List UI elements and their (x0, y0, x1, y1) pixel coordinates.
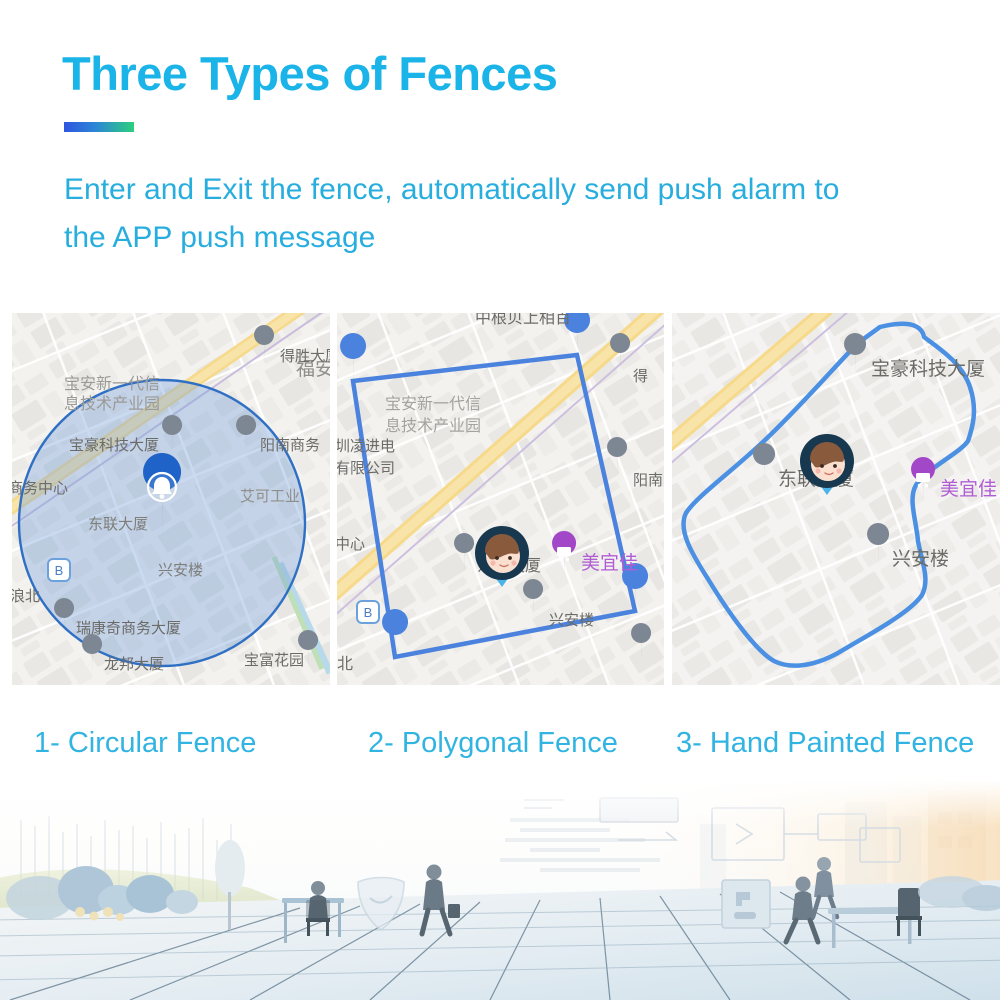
map-label: 宝安新一代信 (385, 394, 481, 413)
map-label: B (364, 605, 373, 620)
map-label: 兴安楼 (892, 548, 949, 570)
panel-hand-painted-fence[interactable]: 宝豪科技大厦 东联大厦 兴安楼 美宜佳 (672, 313, 1000, 685)
plaza-scene-svg (0, 780, 1000, 1000)
map-label: 兴安楼 (158, 561, 203, 579)
map-label: 息技术产业园 (385, 416, 481, 435)
panel-polygonal-fence[interactable]: 中根贝上相百 宝安新一代信 息技术产业园 圳凌进电 有限公司 中心 得 阳南 东… (337, 313, 664, 685)
map-label: 有限公司 (337, 459, 395, 477)
map-label: 阳南商务 (260, 436, 320, 454)
map-label: 阳南 (633, 471, 663, 489)
map-label: 得 (633, 367, 648, 385)
map-label: 宝富花园 (244, 651, 304, 669)
bottom-illustration (0, 780, 1000, 1000)
scene-top-fade (0, 780, 1000, 828)
map-label: 浪北 (12, 587, 40, 605)
map-label: 宝豪科技大厦 (871, 358, 985, 380)
map-label: 商务中心 (12, 479, 68, 497)
caption-circular-fence: 1- Circular Fence (34, 727, 256, 760)
map-label: B (55, 563, 64, 578)
map-label: 宝安新一代信 (64, 374, 160, 393)
map-label: 美宜佳 (940, 478, 997, 500)
map-label: 兴安楼 (549, 611, 594, 629)
title-accent-bar (64, 122, 134, 132)
map-label: 中根贝上相百 (475, 313, 571, 327)
fence-panels: 宝安新一代信 息技术产业园 福安 得胜大厦 宝豪科技大厦 阳南商务 商务中心 艾… (0, 313, 1000, 685)
map-label: 宝豪科技大厦 (69, 436, 159, 454)
page-subtitle: Enter and Exit the fence, automatically … (64, 166, 874, 262)
map-label: 北 (337, 654, 353, 673)
map-label: 东联大厦 (88, 515, 148, 533)
map-label: 艾可工业 (240, 487, 300, 505)
avatar-face (810, 442, 845, 481)
map-label: 息技术产业园 (64, 394, 160, 413)
avatar-face (485, 534, 520, 573)
page-root: Three Types of Fences Enter and Exit the… (0, 0, 1000, 1000)
map-canvas-hand-painted: 宝豪科技大厦 东联大厦 兴安楼 美宜佳 (672, 313, 1000, 685)
panel-circular-fence[interactable]: 宝安新一代信 息技术产业园 福安 得胜大厦 宝豪科技大厦 阳南商务 商务中心 艾… (12, 313, 330, 685)
bus-stop-badge: B (357, 601, 379, 623)
map-label: 圳凌进电 (337, 437, 395, 455)
caption-polygonal-fence: 2- Polygonal Fence (368, 727, 618, 760)
map-canvas-circular: 宝安新一代信 息技术产业园 福安 得胜大厦 宝豪科技大厦 阳南商务 商务中心 艾… (12, 313, 330, 685)
page-title: Three Types of Fences (62, 46, 557, 101)
map-canvas-polygonal: 中根贝上相百 宝安新一代信 息技术产业园 圳凌进电 有限公司 中心 得 阳南 东… (337, 313, 664, 685)
map-label: 得胜大厦 (280, 347, 330, 365)
map-label: 中心 (337, 535, 365, 553)
map-label: 龙邦大厦 (104, 655, 164, 673)
map-label: 美宜佳 (581, 552, 638, 574)
bus-stop-badge: B (48, 559, 70, 581)
caption-hand-painted-fence: 3- Hand Painted Fence (676, 727, 974, 760)
kiosk (722, 880, 770, 928)
